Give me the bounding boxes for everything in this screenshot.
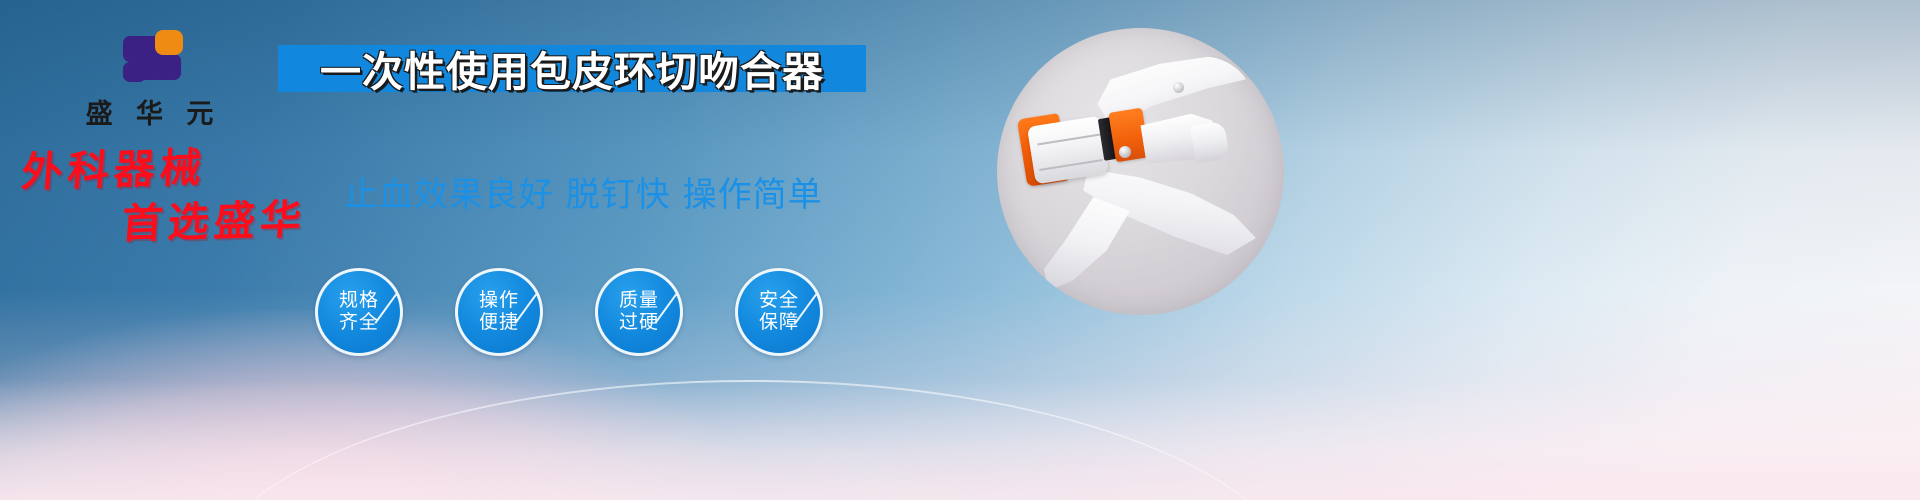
badge-label-line-2: 便捷 <box>479 312 519 334</box>
feature-badge-quality[interactable]: 质量 过硬 <box>595 268 683 356</box>
badge-label-line-2: 过硬 <box>619 312 659 334</box>
feature-badge-row: 规格 齐全 操作 便捷 质量 过硬 安全 保障 <box>315 268 823 356</box>
badge-label-line-1: 操作 <box>479 290 519 312</box>
product-photo-disc <box>997 28 1284 315</box>
stapler-pivot-pin <box>1119 146 1131 158</box>
badge-label-line-2: 齐全 <box>339 312 379 334</box>
page-title: 一次性使用包皮环切吻合器 <box>320 38 824 98</box>
badge-label-line-1: 质量 <box>619 290 659 312</box>
stapler-barrel <box>1027 116 1109 185</box>
calligraphy-line-1: 外科器械 <box>20 144 354 194</box>
brand-logo-block: 盛 华 元 <box>68 30 238 131</box>
product-title-banner: 一次性使用包皮环切吻合器 <box>278 45 866 92</box>
feature-badge-specs[interactable]: 规格 齐全 <box>315 268 403 356</box>
shenghuayuan-blocks-logo-icon <box>123 30 183 86</box>
badge-label-line-1: 规格 <box>339 290 379 312</box>
promo-banner: 盛 华 元 外科器械 首选盛华 一次性使用包皮环切吻合器 止血效果良好 脱钉快 … <box>0 0 1920 500</box>
feature-badge-operation[interactable]: 操作 便捷 <box>455 268 543 356</box>
logo-orange-square-icon <box>155 30 183 55</box>
badge-label-line-2: 保障 <box>759 312 799 334</box>
stapler-pivot-pin-2 <box>1173 82 1184 93</box>
calligraphy-line-2: 首选盛华 <box>120 198 354 245</box>
calligraphy-slogan: 外科器械 首选盛华 <box>22 148 352 242</box>
badge-label-line-1: 安全 <box>759 290 799 312</box>
subtitle-features: 止血效果良好 脱钉快 操作简单 <box>344 167 823 216</box>
brand-name: 盛 华 元 <box>68 92 238 131</box>
product-image <box>997 28 1284 315</box>
stapler-cone-tip <box>1190 121 1230 164</box>
feature-badge-safety[interactable]: 安全 保障 <box>735 268 823 356</box>
